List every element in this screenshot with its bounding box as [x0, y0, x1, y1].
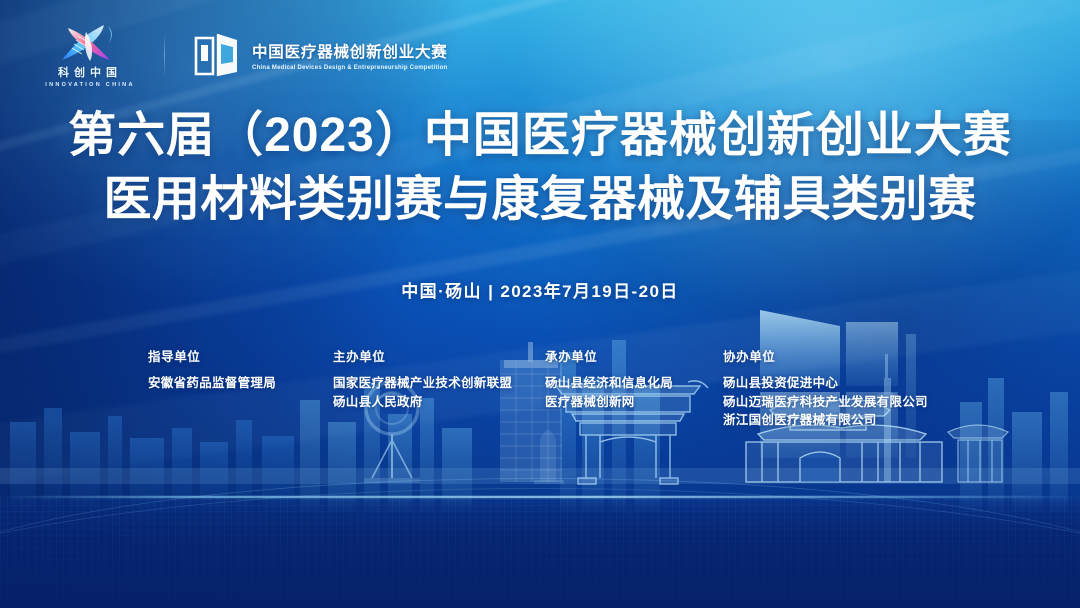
- organization-item: 国家医疗器械产业技术创新联盟: [333, 374, 545, 393]
- ground-plane: [0, 496, 1080, 608]
- logo-innovation-china-cn: 科创中国: [58, 64, 122, 80]
- organization-role: 协办单位: [723, 346, 973, 365]
- title-line-2: 医用材料类别赛与康复器械及辅具类别赛: [0, 168, 1080, 232]
- organization-item: 砀山县经济和信息化局: [545, 374, 723, 393]
- organizations: 指导单位 安徽省药品监督管理局 主办单位 国家医疗器械产业技术创新联盟 砀山县人…: [148, 346, 978, 430]
- logo-bar: 科创中国 INNOVATION CHINA 中国医疗器械创新创业大赛 China…: [44, 22, 448, 88]
- logo-divider: [164, 33, 165, 77]
- organization-column-coorganizer: 协办单位 砀山县投资促进中心 砀山迈瑞医疗科技产业发展有限公司 浙江国创医疗器械…: [723, 346, 973, 430]
- organization-item: 砀山县人民政府: [333, 393, 545, 412]
- conference-banner: 科创中国 INNOVATION CHINA 中国医疗器械创新创业大赛 China…: [0, 0, 1080, 608]
- organization-item: 医疗器械创新网: [545, 393, 723, 412]
- phoenix-dna-icon: [54, 22, 126, 62]
- logo-competition-cn: 中国医疗器械创新创业大赛: [252, 40, 448, 62]
- organization-column-host: 主办单位 国家医疗器械产业技术创新联盟 砀山县人民政府: [333, 346, 545, 430]
- logo-innovation-china[interactable]: 科创中国 INNOVATION CHINA: [44, 22, 136, 88]
- logo-competition[interactable]: 中国医疗器械创新创业大赛 China Medical Devices Desig…: [193, 32, 448, 78]
- event-location-date: 中国·砀山 | 2023年7月19日-20日: [0, 277, 1080, 302]
- open-book-door-icon: [193, 32, 241, 78]
- organization-role: 主办单位: [333, 346, 545, 365]
- title-line-1: 第六届（2023）中国医疗器械创新创业大赛: [0, 104, 1080, 168]
- organization-item: 砀山县投资促进中心: [723, 374, 973, 393]
- organization-role: 指导单位: [148, 346, 333, 365]
- organization-column-guidance: 指导单位 安徽省药品监督管理局: [148, 346, 333, 430]
- organization-role: 承办单位: [545, 346, 723, 365]
- organization-item: 安徽省药品监督管理局: [148, 374, 333, 393]
- logo-innovation-china-en: INNOVATION CHINA: [45, 82, 134, 88]
- organization-column-organizer: 承办单位 砀山县经济和信息化局 医疗器械创新网: [545, 346, 723, 430]
- organization-item: 浙江国创医疗器械有限公司: [723, 411, 973, 430]
- organization-item: 砀山迈瑞医疗科技产业发展有限公司: [723, 393, 973, 412]
- main-title: 第六届（2023）中国医疗器械创新创业大赛 医用材料类别赛与康复器械及辅具类别赛: [0, 104, 1080, 232]
- logo-competition-en: China Medical Devices Design & Entrepren…: [252, 65, 448, 71]
